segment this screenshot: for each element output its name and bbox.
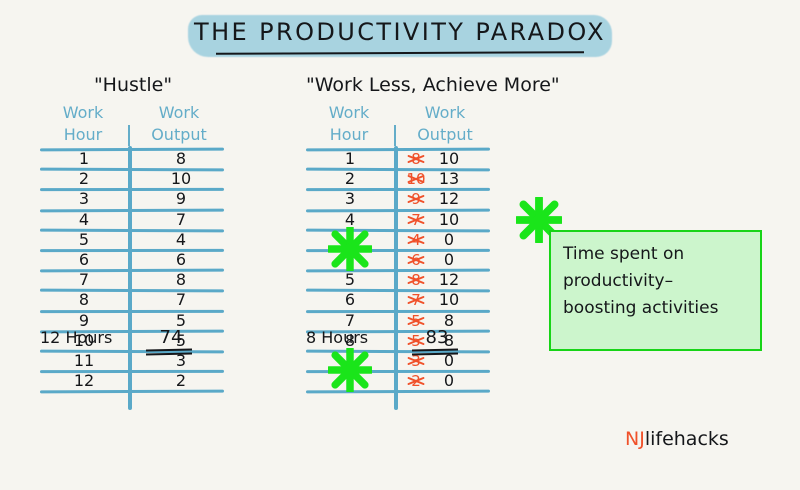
- hour-cell: 3: [310, 189, 390, 209]
- hour-cell: 11: [44, 351, 124, 371]
- hour-cell: 1: [310, 149, 390, 169]
- total-hours-label: 8 Hours: [306, 328, 368, 347]
- superseded-output-cell: 7: [404, 210, 428, 230]
- hustle-header-divider: [128, 125, 130, 146]
- column-divider: [394, 146, 398, 410]
- output-cell: 8: [136, 270, 226, 290]
- output-cell: 6: [136, 250, 226, 270]
- output-cell: 10: [432, 210, 466, 230]
- superseded-output-cell: 8: [404, 270, 428, 290]
- legend-box: Time spent on productivity– boosting act…: [549, 230, 762, 351]
- productivity-asterisk-icon: [328, 227, 372, 271]
- hour-cell: 8: [44, 290, 124, 310]
- hour-cell: 7: [44, 270, 124, 290]
- superseded-output-cell: 4: [404, 230, 428, 250]
- hour-cell: 2: [310, 169, 390, 189]
- hustle-caption: "Hustle": [40, 74, 226, 96]
- legend-line-1: Time spent on: [563, 241, 753, 268]
- hour-cell: 4: [44, 210, 124, 230]
- productivity-asterisk-icon: [328, 348, 372, 392]
- hustle-output-header-line1: Work: [134, 102, 224, 124]
- column-divider: [128, 146, 132, 410]
- output-cell: 2: [136, 371, 226, 391]
- output-cell: 0: [432, 371, 466, 391]
- hour-cell: 5: [44, 230, 124, 250]
- hustle-hour-header-line2: Hour: [40, 124, 126, 146]
- brand-logo: NJlifehacks: [625, 428, 729, 450]
- work-less-column-headers: Work Hour Work Output: [306, 102, 496, 148]
- hour-cell: 6: [44, 250, 124, 270]
- legend-text: Time spent on productivity– boosting act…: [563, 241, 753, 322]
- logo-brand-mark: NJ: [625, 428, 645, 450]
- work-less-output-header-line1: Work: [400, 102, 490, 124]
- superseded-output-cell: 6: [404, 250, 428, 270]
- legend-line-3: boosting activities: [563, 295, 753, 322]
- hour-cell: 2: [44, 169, 124, 189]
- hustle-hour-header-line1: Work: [40, 102, 126, 124]
- superseded-output-cell: 8: [404, 149, 428, 169]
- infographic-canvas: THE PRODUCTIVITY PARADOX "Hustle" Work H…: [0, 0, 800, 490]
- output-cell: 7: [136, 290, 226, 310]
- output-cell: 0: [432, 250, 466, 270]
- hour-cell: 5: [310, 270, 390, 290]
- hustle-column-headers: Work Hour Work Output: [40, 102, 226, 148]
- total-hours-label: 12 Hours: [40, 328, 112, 347]
- hour-cell: 3: [44, 189, 124, 209]
- total-output-value: 83: [410, 327, 464, 348]
- superseded-output-cell: 7: [404, 290, 428, 310]
- output-cell: 9: [136, 189, 226, 209]
- title-text: THE PRODUCTIVITY PARADOX: [188, 14, 612, 50]
- output-cell: 8: [136, 149, 226, 169]
- legend-line-2: productivity–: [563, 268, 753, 295]
- work-less-hour-header-line2: Hour: [306, 124, 392, 146]
- output-cell: 4: [136, 230, 226, 250]
- total-output-value: 74: [144, 327, 198, 348]
- page-title: THE PRODUCTIVITY PARADOX: [188, 12, 612, 60]
- hour-cell: 12: [44, 371, 124, 391]
- hustle-output-header-line2: Output: [134, 124, 224, 146]
- output-cell: 10: [432, 149, 466, 169]
- output-cell: 13: [432, 169, 466, 189]
- output-cell: 12: [432, 270, 466, 290]
- hour-cell: 6: [310, 290, 390, 310]
- work-less-caption: "Work Less, Achieve More": [306, 74, 496, 96]
- superseded-output-cell: 2: [404, 371, 428, 391]
- superseded-output-cell: 9: [404, 189, 428, 209]
- output-cell: 12: [432, 189, 466, 209]
- hour-cell: 1: [44, 149, 124, 169]
- output-cell: 0: [432, 230, 466, 250]
- work-less-header-divider: [394, 125, 396, 146]
- output-cell: 7: [136, 210, 226, 230]
- output-cell: 10: [432, 290, 466, 310]
- superseded-output-cell: 10: [404, 169, 428, 189]
- work-less-hour-header-line1: Work: [306, 102, 392, 124]
- logo-wordmark: lifehacks: [645, 428, 729, 450]
- work-less-output-header-line2: Output: [400, 124, 490, 146]
- output-cell: 10: [136, 169, 226, 189]
